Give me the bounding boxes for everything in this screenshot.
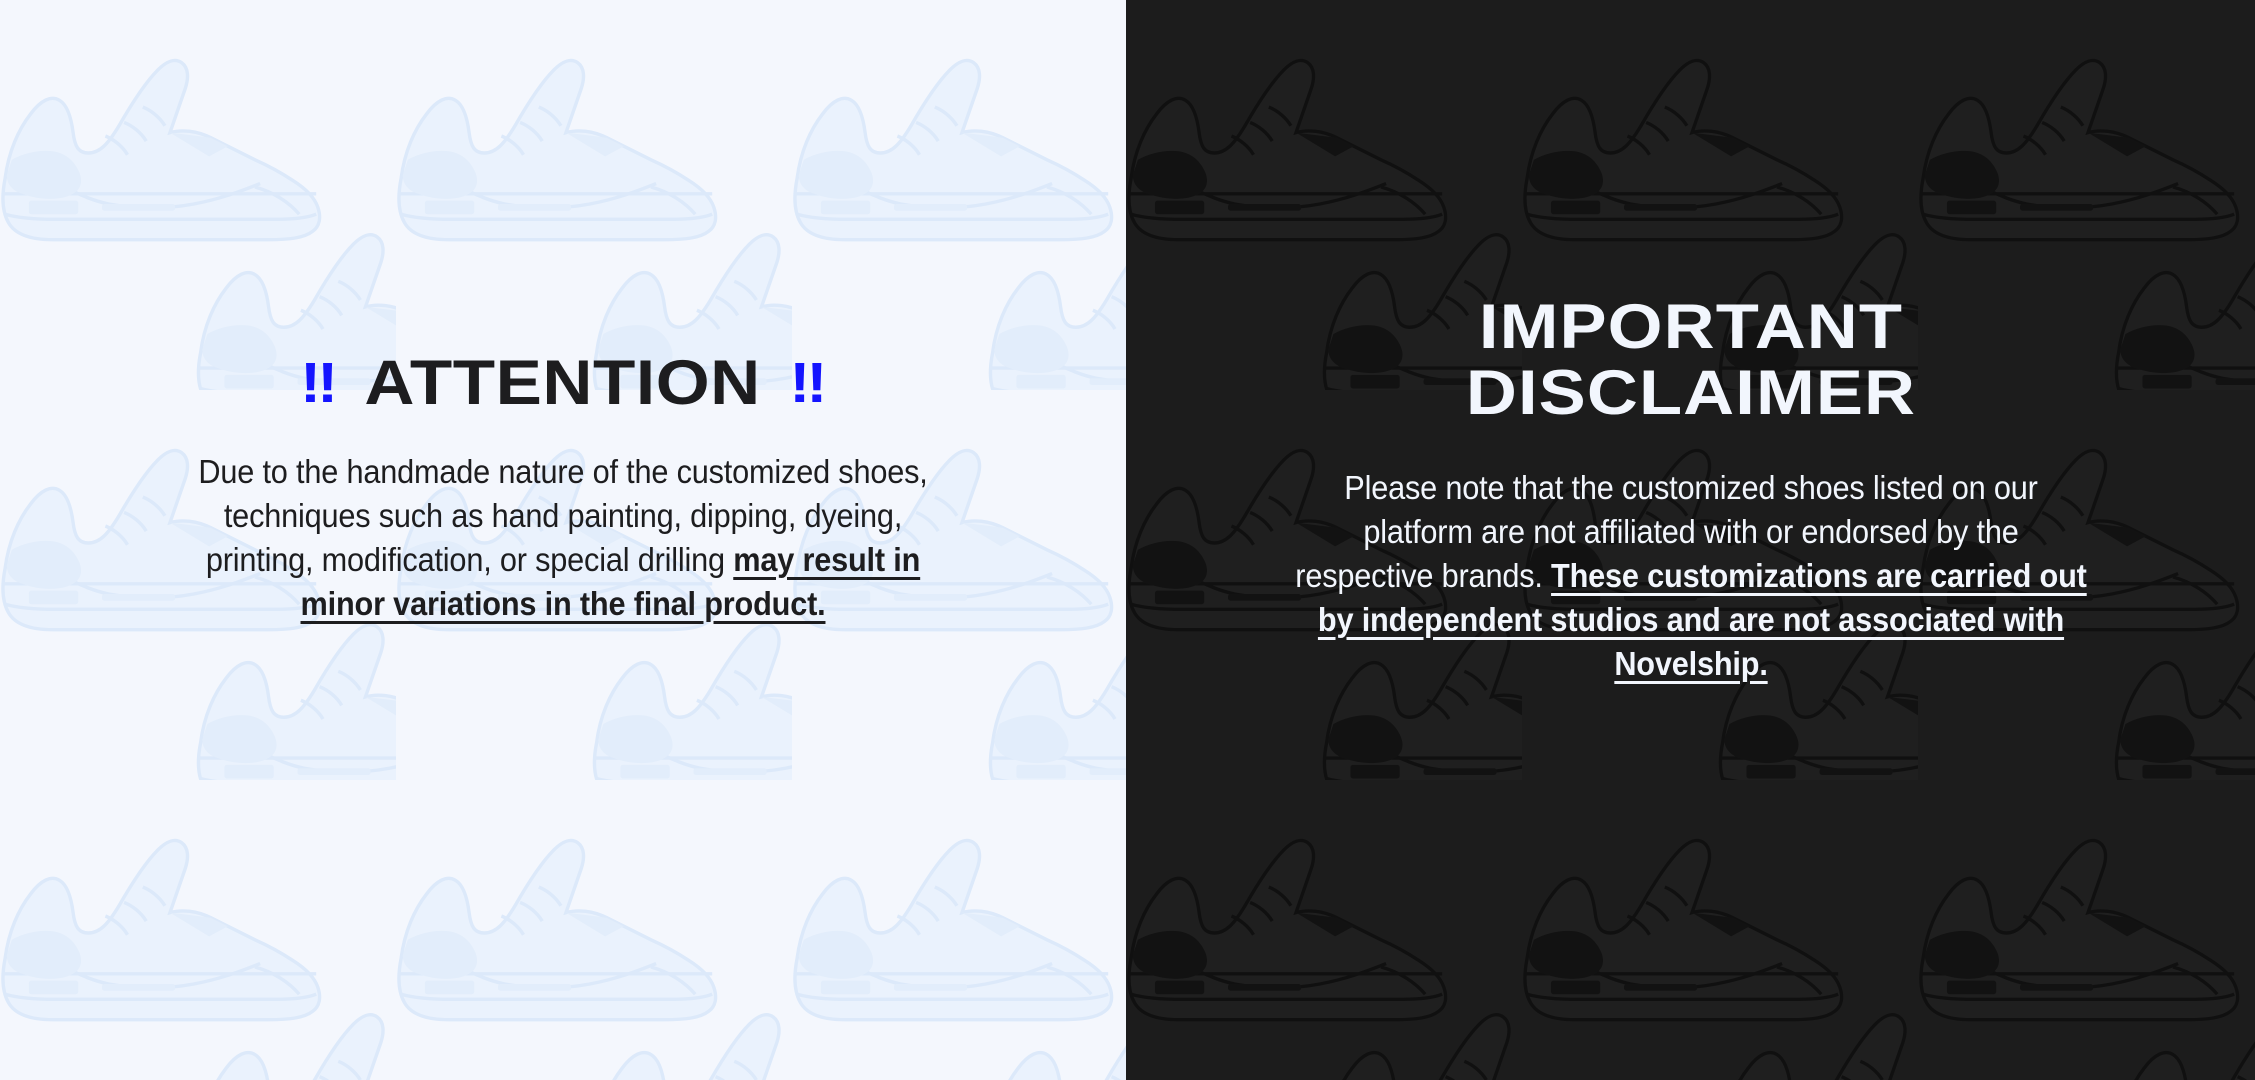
disclaimer-heading-line2: DISCLAIMER: [1465, 358, 1915, 428]
attention-panel: ‼ ATTENTION ‼ Due to the handmade nature…: [0, 0, 1126, 1080]
disclaimer-heading: IMPORTANT DISCLAIMER: [1465, 295, 1915, 426]
double-exclamation-right-icon: ‼: [790, 355, 826, 412]
attention-content: ‼ ATTENTION ‼ Due to the handmade nature…: [0, 0, 1126, 626]
disclaimer-panel: IMPORTANT DISCLAIMER Please note that th…: [1126, 0, 2255, 1080]
disclaimer-heading-line1: IMPORTANT: [1478, 292, 1902, 362]
split-notice-banner: ‼ ATTENTION ‼ Due to the handmade nature…: [0, 0, 2255, 1080]
attention-heading-text: ATTENTION: [365, 352, 761, 415]
disclaimer-body: Please note that the customized shoes li…: [1291, 426, 2091, 685]
attention-heading: ‼ ATTENTION ‼: [301, 352, 826, 415]
double-exclamation-left-icon: ‼: [301, 355, 337, 412]
attention-body: Due to the handmade nature of the custom…: [177, 415, 949, 626]
disclaimer-content: IMPORTANT DISCLAIMER Please note that th…: [1126, 0, 2255, 685]
